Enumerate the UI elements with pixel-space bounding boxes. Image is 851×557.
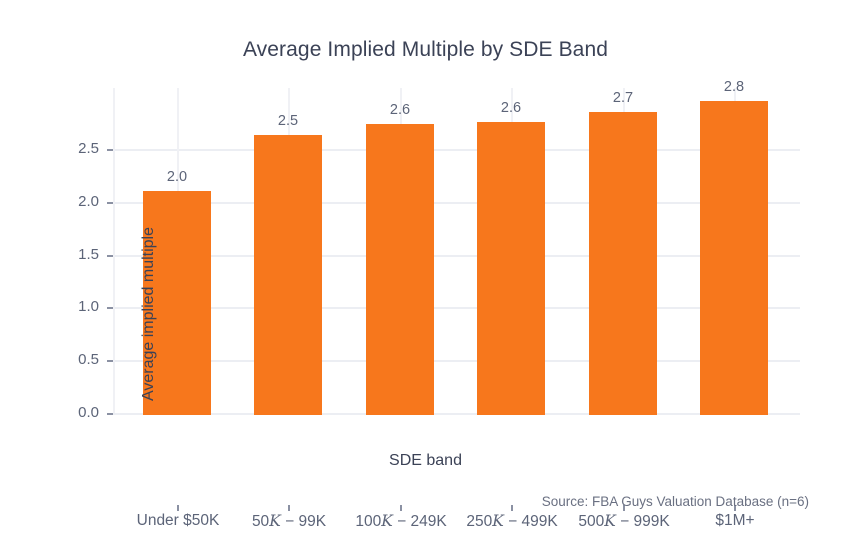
x-tick-mark-3 xyxy=(511,505,513,511)
x-tick-label-5: $1M+ xyxy=(635,512,835,530)
x-tick-label-4-unit: K xyxy=(604,512,616,530)
y-tick-mark-0 xyxy=(107,413,113,415)
x-tick-label-1-dash: − xyxy=(281,513,299,530)
x-tick-label-4-dash: − xyxy=(616,513,634,530)
x-tick-label-2-dash: − xyxy=(393,513,411,530)
bar-1[interactable] xyxy=(254,135,322,415)
x-tick-label-3-pre: 250 xyxy=(466,513,492,530)
x-tick-label-1-unit: K xyxy=(269,512,281,530)
bar-value-label-1: 2.5 xyxy=(228,113,348,129)
y-axis-title: Average implied multiple xyxy=(140,64,158,557)
x-axis-title: SDE band xyxy=(0,452,851,470)
y-tick-mark-1 xyxy=(107,360,113,362)
x-tick-label-1-pre: 50 xyxy=(252,513,269,530)
y-tick-mark-5 xyxy=(107,149,113,151)
x-tick-label-3-unit: K xyxy=(492,512,504,530)
y-tick-label-0: 0.0 xyxy=(53,404,99,421)
bar-value-label-0: 2.0 xyxy=(117,169,237,185)
bar-2[interactable] xyxy=(366,124,434,415)
bar-5[interactable] xyxy=(700,101,768,415)
x-tick-mark-2 xyxy=(400,505,402,511)
gridline-y-2 xyxy=(113,307,800,309)
gridline-y-3 xyxy=(113,255,800,257)
y-tick-label-4: 2.0 xyxy=(53,193,99,210)
source-annotation: Source: FBA Guys Valuation Database (n=6… xyxy=(542,494,809,509)
chart-figure: Average Implied Multiple by SDE Band 2.0… xyxy=(0,0,851,557)
bar-value-label-5: 2.8 xyxy=(674,79,794,95)
bar-value-label-4: 2.7 xyxy=(563,90,683,106)
y-tick-label-5: 2.5 xyxy=(53,140,99,157)
x-tick-label-4-pre: 500 xyxy=(578,513,604,530)
x-tick-label-2-pre: 100 xyxy=(355,513,381,530)
gridline-y-4 xyxy=(113,202,800,204)
x-tick-mark-1 xyxy=(288,505,290,511)
bar-value-label-2: 2.6 xyxy=(340,102,460,118)
gridline-x-0 xyxy=(113,88,115,415)
bar-4[interactable] xyxy=(589,112,657,415)
y-tick-mark-3 xyxy=(107,255,113,257)
bar-value-label-3: 2.6 xyxy=(451,100,571,116)
x-tick-label-3-dash: − xyxy=(504,513,522,530)
plot-area: 2.0 2.5 2.6 2.6 2.7 2.8 0.0 0.5 1.0 1.5 … xyxy=(113,88,800,415)
x-tick-mark-0 xyxy=(177,505,179,511)
y-tick-mark-4 xyxy=(107,202,113,204)
y-tick-label-3: 1.5 xyxy=(53,246,99,263)
y-tick-label-2: 1.0 xyxy=(53,298,99,315)
chart-title: Average Implied Multiple by SDE Band xyxy=(0,38,851,62)
y-tick-mark-2 xyxy=(107,307,113,309)
y-tick-label-1: 0.5 xyxy=(53,351,99,368)
x-tick-label-2-unit: K xyxy=(381,512,393,530)
gridline-y-1 xyxy=(113,360,800,362)
bar-3[interactable] xyxy=(477,122,545,415)
x-axis-baseline xyxy=(113,413,800,415)
x-tick-label-5-text: $1M+ xyxy=(715,512,754,529)
gridline-y-5 xyxy=(113,149,800,151)
